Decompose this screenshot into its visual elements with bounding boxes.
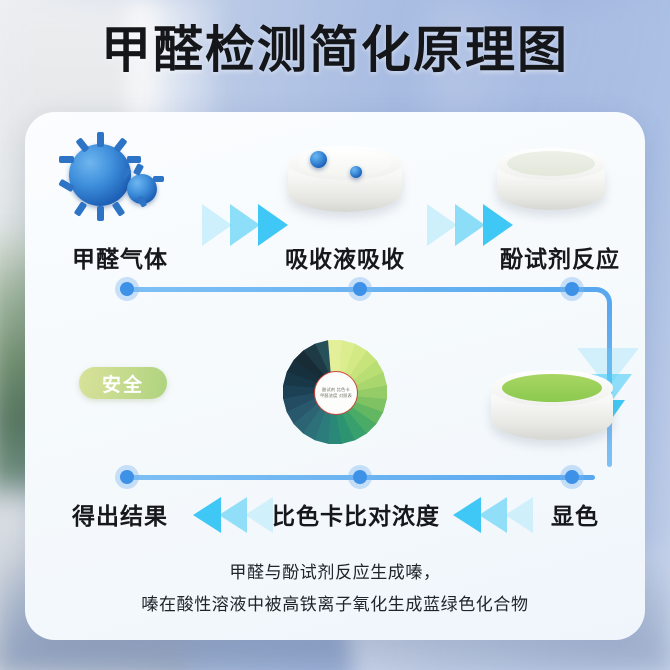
connector-dot-3 [565, 282, 579, 296]
connector-dot-4 [120, 470, 134, 484]
connector-dot-1 [120, 282, 134, 296]
label-step-2: 吸收液吸收 [265, 240, 425, 274]
footer-description: 甲醛与酚试剂反应生成嗪， 嗪在酸性溶液中被高铁离子氧化生成蓝绿色化合物 [25, 557, 645, 622]
step-color-developed-dish-icon [477, 364, 627, 450]
safety-badge: 安全 [79, 367, 167, 399]
step-absorption-dish-icon [280, 140, 410, 224]
wheel-hub-line2: 甲醛浓度 对照表 [320, 393, 352, 399]
label-step-4: 显色 [525, 497, 625, 531]
molecule-in-dish-2-icon [350, 166, 362, 178]
label-step-1: 甲醛气体 [40, 240, 200, 274]
label-step-3: 酚试剂反应 [485, 240, 635, 274]
connector-dot-6 [565, 470, 579, 484]
color-comparison-wheel-icon: 酚试剂 比色卡 甲醛浓度 对照表 [283, 340, 387, 444]
page-title: 甲醛检测简化原理图 [0, 22, 670, 79]
step-formaldehyde-gas-icon [35, 130, 205, 230]
connector-dot-5 [353, 470, 367, 484]
footer-line-1: 甲醛与酚试剂反应生成嗪， [25, 557, 645, 589]
molecule-in-dish-1-icon [310, 151, 327, 168]
diagram-card: 甲醛气体 吸收液吸收 酚试剂反应 安全 酚试剂 比色卡 甲醛浓度 对照表 [25, 112, 645, 640]
safety-badge-label: 安全 [102, 370, 144, 397]
connector-dot-2 [353, 282, 367, 296]
footer-line-2: 嗪在酸性溶液中被高铁离子氧化生成蓝绿色化合物 [25, 589, 645, 621]
wheel-hub: 酚试剂 比色卡 甲醛浓度 对照表 [314, 371, 358, 415]
label-step-5: 比色卡比对浓度 [260, 497, 452, 531]
step-phenol-dish-icon [487, 144, 617, 224]
label-step-6: 得出结果 [45, 497, 195, 531]
